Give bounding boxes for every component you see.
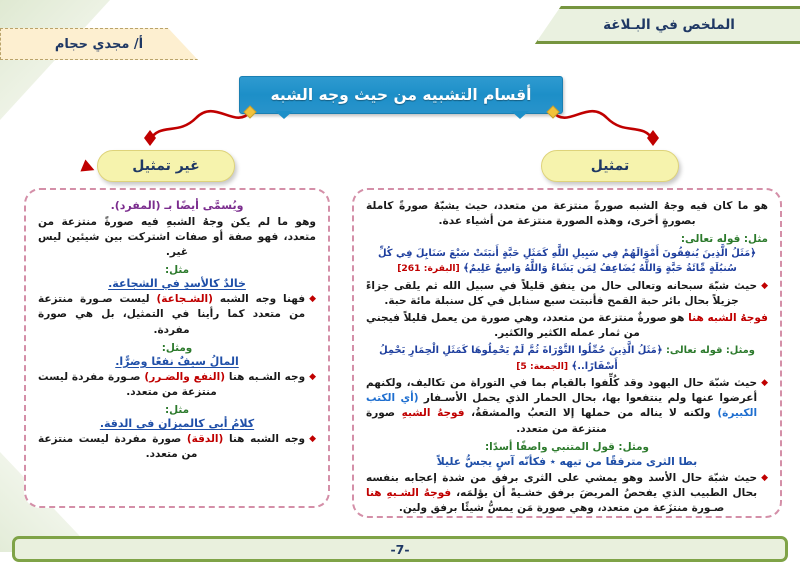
header-banner: الملخص في البـلاغة (535, 6, 800, 44)
right-item-2-poem: بطا الثرى مترفقًا من تيهه ٭ فكأنّه آسٍ ي… (366, 455, 768, 468)
right-item-2-explain: ◆ حيث شبّهَ حال الأسد وهو يمشي على الثرى… (366, 471, 768, 517)
left-item-2-pre: وجه الشبه هنا (223, 433, 305, 445)
right-item-1-tail: ولكنه لا يناله من حملها إلا التعبُ والمش… (465, 407, 718, 419)
right-item-0-explain-1: ◆ حيث شبّهَ سبحانه وتعالى حال من ينفق قل… (366, 279, 768, 309)
left-definition: وهو ما لم يكن وجهُ الشبهِ فيه صورةً منتز… (38, 215, 316, 260)
author-name: أ/ مجدي حجام (55, 37, 143, 52)
main-title: أقسام التشبيه من حيث وجه الشبه (241, 76, 563, 112)
panel-tamtheel: هو ما كان فيه وجهُ الشبه صورةً منتزعة من… (352, 188, 782, 518)
left-item-1-example: المالُ سيفٌ نفعًا وضرًّا. (38, 355, 316, 368)
right-item-2-hl: فوجهُ الشـبهِ هنا (366, 487, 451, 499)
author-tag: أ/ مجدي حجام (0, 28, 198, 60)
right-definition: هو ما كان فيه وجهُ الشبه صورةً منتزعة من… (366, 199, 768, 229)
right-item-0-quran: ﴿مَثَلُ الَّذِينَ يُنفِقُونَ أَمْوَالَهُ… (366, 246, 768, 277)
right-item-2-post: صـورة منتزَعة من متعدد، وهي صورة مَن يمس… (399, 502, 724, 514)
left-item-1-label: ومثل: (38, 342, 316, 354)
left-item-1-explain: ◆ وجه الشـبه هنا (النفع والضـرر) صـورة م… (38, 370, 316, 400)
right-item-1-explain: ◆ حيث شبّهَ حال اليهود وقد كُلِّفوا بالق… (366, 376, 768, 437)
category-pill-ghayr-tamtheel[interactable]: غير تمثيل (97, 150, 235, 182)
right-item-2-label: ومثل: قول المتنبي واصفًا أسدًا: (366, 441, 768, 453)
page-footer: -7- (12, 536, 788, 562)
page-canvas: الملخص في البـلاغة أ/ مجدي حجام أقسام ال… (0, 0, 800, 572)
right-item-1-quran: ومثل: قوله تعالى: ﴿مَثَلُ الَّذِينَ حُمِ… (366, 343, 768, 374)
left-item-0-pre: فهنا وجه الشبه (213, 293, 305, 305)
main-title-text: أقسام التشبيه من حيث وجه الشبه (271, 86, 532, 104)
left-item-1-example-text: المالُ سيفٌ نفعًا وضرًّا. (115, 355, 239, 368)
right-item-1-hl: فوجهُ الشبهِ (402, 407, 465, 419)
left-item-2-label: مثل: (38, 404, 316, 416)
main-title-box: أقسام التشبيه من حيث وجه الشبه (239, 76, 563, 114)
right-item-0-explain-1-body: حيث شبّهَ سبحانه وتعالى حال من ينفق قليل… (366, 279, 757, 309)
category-pill-tamtheel[interactable]: تمثيل (541, 150, 679, 182)
panel-ghayr-tamtheel: ويُسمَّى أيضًا بـ (المفرد). وهو ما لم يك… (24, 188, 330, 508)
right-item-1-verse-ref: [الجمعة: 5] (516, 361, 568, 372)
right-item-0-explain-2: فوجهُ الشبه هنا هو صورةٌ منتزعة من متعدد… (366, 311, 768, 341)
right-item-0-label: مثل: قوله تعالى: (366, 233, 768, 245)
diamond-bullet-icon: ◆ (761, 377, 768, 391)
right-item-0-verse-ref: [البقرة: 261] (397, 263, 460, 274)
right-item-1-label: ومثل: قوله تعالى: (666, 345, 755, 356)
category-pill-left-label: غير تمثيل (132, 158, 199, 174)
right-item-1-explain-body: حيث شبّهَ حال اليهود وقد كُلِّفوا بالقيا… (366, 376, 757, 437)
arrow-tip-right-icon (647, 130, 659, 146)
left-subtitle: ويُسمَّى أيضًا بـ (المفرد). (38, 199, 316, 212)
header-banner-title: الملخص في البـلاغة (603, 17, 735, 33)
right-item-2-explain-body: حيث شبّهَ حال الأسد وهو يمشي على الثرى ب… (366, 471, 757, 517)
diamond-bullet-icon: ◆ (761, 472, 768, 486)
left-item-0-label: مثل: (38, 264, 316, 276)
diamond-bullet-icon: ◆ (761, 280, 768, 294)
diamond-bullet-icon: ◆ (309, 293, 316, 307)
arrow-path-left (150, 111, 250, 140)
left-item-0-explain-body: فهنا وجه الشبه (الشـجاعة) ليست صـورة منت… (38, 292, 305, 338)
left-item-1-hl: (النفع والضـرر) (144, 371, 225, 383)
left-item-0-example: خالدٌ كالأسدِ في الشجاعة. (38, 277, 316, 290)
left-item-0-explain: ◆ فهنا وجه الشبه (الشـجاعة) ليست صـورة م… (38, 292, 316, 338)
arrow-path-right (553, 111, 653, 140)
left-item-2-example-text: كلامُ أبي كالميزان في الدقة. (100, 417, 254, 430)
category-pill-right-label: تمثيل (591, 158, 630, 174)
arrow-head-left-icon (79, 158, 95, 172)
left-item-1-explain-body: وجه الشـبه هنا (النفع والضـرر) صـورة مفر… (38, 370, 305, 400)
left-item-2-hl: (الدقة) (187, 433, 223, 445)
title-tail-left-icon (275, 111, 293, 119)
left-item-1-pre: وجه الشـبه هنا (225, 371, 305, 383)
diamond-bullet-icon: ◆ (309, 433, 316, 447)
right-item-0-hl: فوجهُ الشبه هنا (688, 312, 768, 324)
left-item-0-example-text: خالدٌ كالأسدِ في الشجاعة. (108, 277, 246, 290)
diamond-bullet-icon: ◆ (309, 371, 316, 385)
arrow-tip-left-icon (144, 130, 156, 146)
title-tail-right-icon (511, 111, 529, 119)
page-number: -7- (390, 542, 409, 557)
right-item-0-post: هو صورةٌ منتزعة من متعدد، وهي صورة من يع… (366, 312, 688, 339)
left-item-2-example: كلامُ أبي كالميزان في الدقة. (38, 417, 316, 430)
left-item-2-explain-body: وجه الشبه هنا (الدقة) صورة مفردة ليست من… (38, 432, 305, 462)
left-item-0-hl: (الشـجاعة) (156, 293, 212, 305)
left-item-2-explain: ◆ وجه الشبه هنا (الدقة) صورة مفردة ليست … (38, 432, 316, 462)
right-item-1-exp1: حيث شبّهَ حال اليهود وقد كُلِّفوا بالقيا… (366, 377, 757, 404)
left-item-2-post: صورة مفردة ليست منتزعة من متعدد. (38, 433, 197, 460)
corner-decoration-top-left (0, 0, 150, 120)
